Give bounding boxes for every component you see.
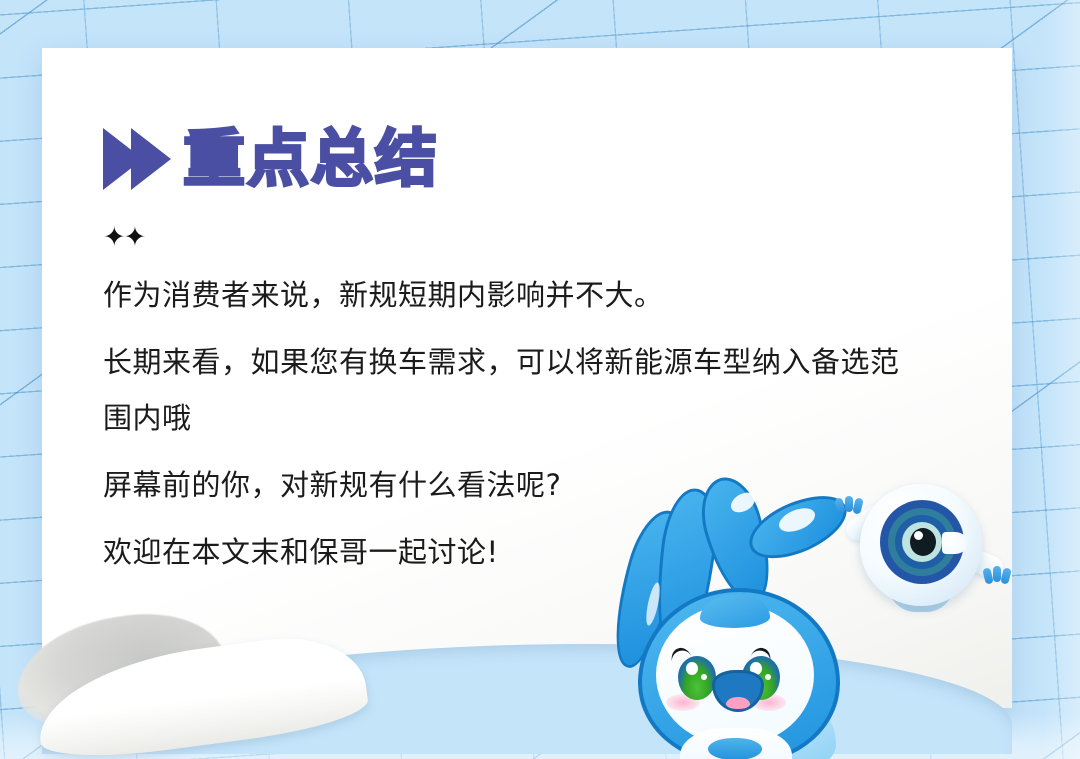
robot-hand-right — [984, 566, 1010, 586]
mascot-eye-highlight-left-a — [686, 662, 698, 675]
mascot-eye-highlight-left-b — [701, 674, 707, 680]
chevron-right-icon-2 — [131, 128, 171, 190]
mascot-eye-highlight-right-b — [765, 674, 771, 680]
mascot-bowtie — [708, 738, 762, 759]
blue-flame-mascot-icon — [612, 470, 852, 759]
page-title: 重点总结 — [183, 128, 439, 190]
robot-eye-notch — [942, 532, 968, 554]
robot-pupil-highlight — [914, 531, 923, 540]
robot-finger-r3 — [1000, 567, 1012, 584]
summary-line-2: 长期来看，如果您有换车需求，可以将新能源车型纳入备选范 — [103, 348, 1003, 377]
mascot-eye-left — [678, 656, 716, 700]
background-right-highlight — [1044, 0, 1080, 759]
cyclops-robot-icon — [832, 478, 1020, 634]
double-chevron-right-icon — [103, 128, 171, 190]
mascot-tongue — [726, 697, 750, 709]
summary-line-1: 作为消费者来说，新规短期内影响并不大。 — [103, 281, 1003, 310]
poster-canvas: 重点总结 ✦✦ 作为消费者来说，新规短期内影响并不大。 长期来看，如果您有换车需… — [0, 0, 1080, 759]
sparkle-icon: ✦✦ — [103, 224, 144, 251]
robot-hand-left — [836, 496, 862, 516]
summary-line-3: 围内哦 — [103, 404, 1003, 433]
page-title-row: 重点总结 — [103, 128, 439, 190]
